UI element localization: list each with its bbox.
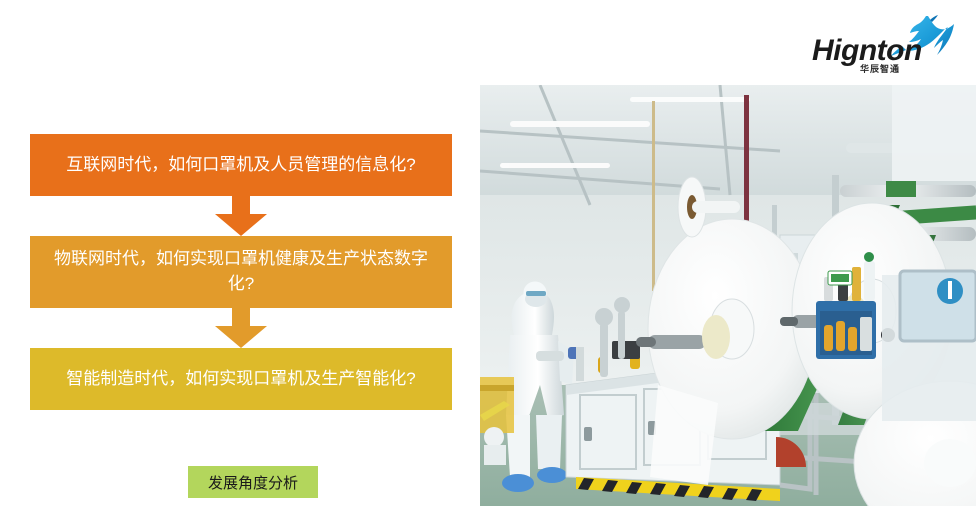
down-arrow-icon (215, 196, 267, 236)
section-caption: 发展角度分析 (188, 466, 318, 498)
section-caption-label: 发展角度分析 (208, 472, 298, 493)
flow-step-2: 物联网时代，如何实现口罩机健康及生产状态数字化? (30, 236, 452, 308)
flow-step-3: 智能制造时代，如何实现口罩机及生产智能化? (30, 348, 452, 410)
down-arrow-icon (215, 308, 267, 348)
flow-step-2-label: 物联网时代，如何实现口罩机健康及生产状态数字化? (44, 247, 438, 296)
flow-step-3-label: 智能制造时代，如何实现口罩机及生产智能化? (66, 367, 415, 392)
process-flow: 互联网时代，如何口罩机及人员管理的信息化? 物联网时代，如何实现口罩机健康及生产… (30, 134, 452, 410)
factory-photo (480, 85, 976, 506)
flow-step-1-label: 互联网时代，如何口罩机及人员管理的信息化? (66, 153, 415, 178)
logo-subtext: 华辰智通 (860, 62, 900, 75)
company-logo: Hignton 华辰智通 (812, 14, 960, 76)
flow-connector-2 (30, 308, 452, 348)
flow-step-1: 互联网时代，如何口罩机及人员管理的信息化? (30, 134, 452, 196)
flow-connector-1 (30, 196, 452, 236)
